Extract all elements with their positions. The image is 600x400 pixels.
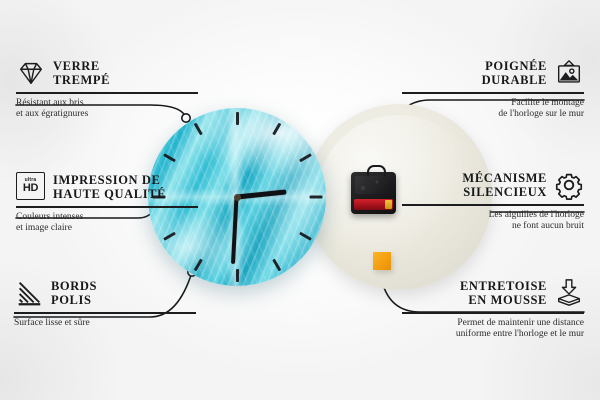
feature-header: POIGNÉE DURABLE (402, 58, 584, 88)
ultra-hd-badge-icon: ultra HD (16, 172, 46, 202)
divider (402, 204, 584, 206)
divider (14, 312, 196, 314)
feature-description: Surface lisse et sûre (14, 318, 196, 330)
diamond-icon (16, 58, 46, 88)
clock-tick (236, 112, 239, 125)
clock-tick (309, 196, 322, 199)
feature-silent-movement: MÉCANISME SILENCIEUX Les aiguilles de l'… (402, 170, 584, 233)
feature-title: POIGNÉE DURABLE (482, 59, 547, 87)
clock-tick (236, 269, 239, 282)
feature-title: MÉCANISME SILENCIEUX (462, 171, 547, 199)
mechanism-emboss (355, 176, 392, 194)
feature-description: Les aiguilles de l'horloge ne font aucun… (402, 210, 584, 233)
feature-description: Facilite le montage de l'horloge sur le … (402, 98, 584, 121)
feature-description: Résistant aux bris et aux égratignures (16, 98, 198, 121)
clock-mechanism (351, 172, 396, 214)
product-infographic: VERRE TREMPÉ Résistant aux bris et aux é… (0, 0, 600, 400)
feature-header: MÉCANISME SILENCIEUX (402, 170, 584, 200)
feature-description: Couleurs intenses et image claire (16, 212, 198, 235)
feature-header: ENTRETOISE EN MOUSSE (402, 278, 584, 308)
arrow-press-foam-icon (554, 278, 584, 308)
feature-title: IMPRESSION DE HAUTE QUALITÉ (53, 173, 166, 201)
badge-hd-label: HD (23, 183, 38, 194)
divider (16, 92, 198, 94)
divider (402, 312, 584, 314)
feature-tempered-glass: VERRE TREMPÉ Résistant aux bris et aux é… (16, 58, 198, 121)
battery (354, 199, 393, 210)
feature-description: Permet de maintenir une distance uniform… (402, 318, 584, 341)
feature-header: ultra HD IMPRESSION DE HAUTE QUALITÉ (16, 172, 198, 202)
feature-title: ENTRETOISE EN MOUSSE (460, 279, 547, 307)
divider (16, 206, 198, 208)
feature-foam-spacer: ENTRETOISE EN MOUSSE Permet de maintenir… (402, 278, 584, 341)
diagonal-lines-icon (14, 278, 44, 308)
feature-polished-edges: BORDS POLIS Surface lisse et sûre (14, 278, 196, 329)
feature-durable-hanger: POIGNÉE DURABLE Facilite le montage de l… (402, 58, 584, 121)
feature-header: VERRE TREMPÉ (16, 58, 198, 88)
foam-spacer-pad (373, 252, 391, 270)
gear-icon (554, 170, 584, 200)
clock-center-cap (234, 194, 241, 201)
feature-title: BORDS POLIS (51, 279, 97, 307)
framed-picture-icon (554, 58, 584, 88)
feature-hd-print: ultra HD IMPRESSION DE HAUTE QUALITÉ Cou… (16, 172, 198, 235)
feature-header: BORDS POLIS (14, 278, 196, 308)
feature-title: VERRE TREMPÉ (53, 59, 110, 87)
battery-cap (385, 200, 392, 209)
divider (402, 92, 584, 94)
